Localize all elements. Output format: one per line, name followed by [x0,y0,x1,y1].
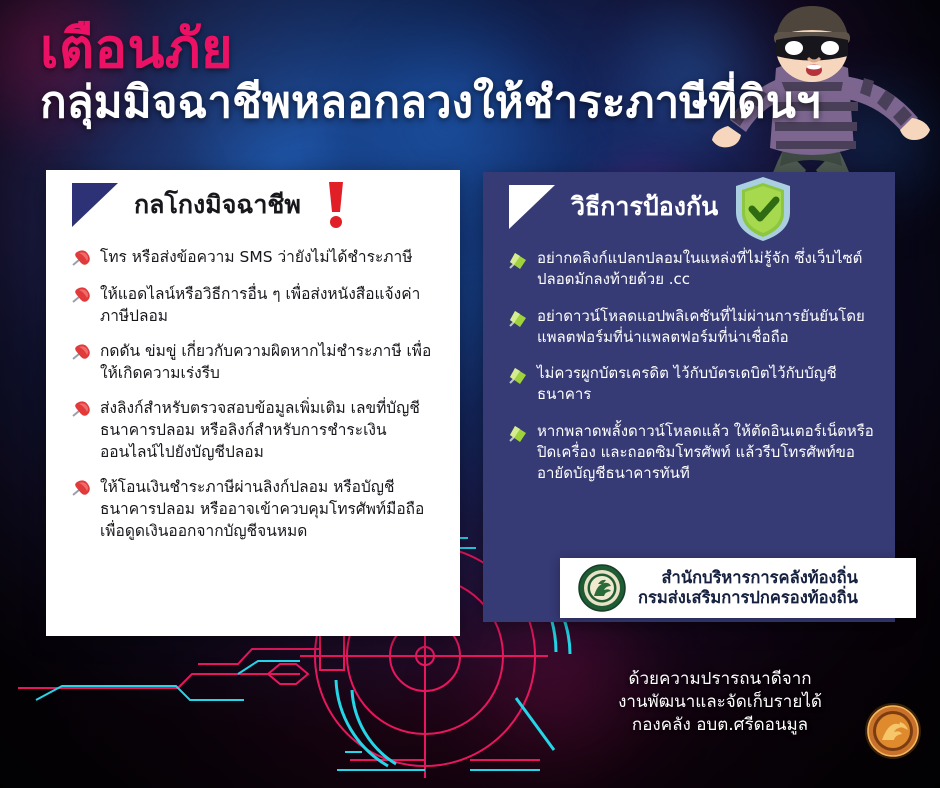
red-pushpin-icon [70,285,92,307]
prevention-list: อย่ากดลิงก์แปลกปลอมในแหล่งที่ไม่รู้จัก ซ… [483,248,895,485]
prevention-card: วิธีการป้องกัน อย่ากดลิงก์แปลกปลอมในแหล่… [483,172,895,622]
headline: เตือนภัย กลุ่มมิจฉาชีพหลอกลวงให้ชำระภาษี… [40,22,920,126]
list-item: ให้โอนเงินชำระภาษีผ่านลิงก์ปลอม หรือบัญช… [70,476,440,542]
list-item: กดดัน ข่มขู่ เกี่ยวกับความผิดหากไม่ชำระภ… [70,340,440,384]
list-item: ไม่ควรผูกบัตรเครดิต ไว้กับบัตรเดบิตไว้กั… [507,363,875,406]
triangle-accent-icon [509,185,555,229]
list-item-text: โทร หรือส่งข้อความ SMS ว่ายังไม่ได้ชำระภ… [100,246,412,268]
scam-methods-header: กลโกงมิจฉาชีพ [46,170,460,240]
credit-line-3: กองคลัง อบต.ศรีดอนมูล [575,714,865,737]
red-pushpin-icon [70,248,92,270]
list-item-text: ให้แอดไลน์หรือวิธีการอื่น ๆ เพื่อส่งหนัง… [100,283,440,327]
agency-banner: สำนักบริหารการคลังท้องถิ่น กรมส่งเสริมกา… [560,558,916,618]
municipality-seal-icon [862,700,924,762]
scam-methods-title: กลโกงมิจฉาชีพ [134,185,301,225]
list-item: ให้แอดไลน์หรือวิธีการอื่น ๆ เพื่อส่งหนัง… [70,283,440,327]
list-item: หากพลาดพลั้งดาวน์โหลดแล้ว ให้ตัดอินเตอร์… [507,421,875,485]
red-pushpin-icon [70,399,92,421]
list-item: อย่าดาวน์โหลดแอปพลิเคชันที่ไม่ผ่านการยัน… [507,306,875,349]
scam-methods-card: กลโกงมิจฉาชีพ โทร หรือส่งข้อความ SMS ว่า… [46,170,460,636]
red-pushpin-icon [70,478,92,500]
agency-line-2: กรมส่งเสริมการปกครองท้องถิ่น [638,588,858,608]
list-item-text: ไม่ควรผูกบัตรเครดิต ไว้กับบัตรเดบิตไว้กั… [537,363,875,406]
list-item-text: ส่งลิงก์สำหรับตรวจสอบข้อมูลเพิ่มเติม เลข… [100,397,440,463]
green-pushpin-icon [507,365,529,387]
red-pushpin-icon [70,342,92,364]
list-item-text: อย่าดาวน์โหลดแอปพลิเคชันที่ไม่ผ่านการยัน… [537,306,875,349]
prevention-header: วิธีการป้องกัน [483,172,895,242]
agency-text: สำนักบริหารการคลังท้องถิ่น กรมส่งเสริมกา… [638,568,858,608]
dla-seal-icon [578,564,626,612]
poster-root: เตือนภัย กลุ่มมิจฉาชีพหลอกลวงให้ชำระภาษี… [0,0,940,788]
green-pushpin-icon [507,250,529,272]
list-item: อย่ากดลิงก์แปลกปลอมในแหล่งที่ไม่รู้จัก ซ… [507,248,875,291]
list-item-text: กดดัน ข่มขู่ เกี่ยวกับความผิดหากไม่ชำระภ… [100,340,440,384]
agency-line-1: สำนักบริหารการคลังท้องถิ่น [638,568,858,588]
green-shield-check-icon [732,175,794,243]
triangle-accent-icon [72,183,118,227]
list-item-text: ให้โอนเงินชำระภาษีผ่านลิงก์ปลอม หรือบัญช… [100,476,440,542]
list-item-text: อย่ากดลิงก์แปลกปลอมในแหล่งที่ไม่รู้จัก ซ… [537,248,875,291]
credit-line-1: ด้วยความปรารถนาดีจาก [575,668,865,691]
list-item-text: หากพลาดพลั้งดาวน์โหลดแล้ว ให้ตัดอินเตอร์… [537,421,875,485]
list-item: ส่งลิงก์สำหรับตรวจสอบข้อมูลเพิ่มเติม เลข… [70,397,440,463]
list-item: โทร หรือส่งข้อความ SMS ว่ายังไม่ได้ชำระภ… [70,246,440,270]
credit-line-2: งานพัฒนาและจัดเก็บรายได้ [575,691,865,714]
exclamation-mark-icon [323,182,349,228]
credit-block: ด้วยความปรารถนาดีจาก งานพัฒนาและจัดเก็บร… [575,668,865,736]
green-pushpin-icon [507,423,529,445]
scam-methods-list: โทร หรือส่งข้อความ SMS ว่ายังไม่ได้ชำระภ… [46,246,460,542]
page-title: เตือนภัย [40,22,920,76]
prevention-title: วิธีการป้องกัน [571,187,718,227]
green-pushpin-icon [507,308,529,330]
page-subtitle: กลุ่มมิจฉาชีพหลอกลวงให้ชำระภาษีที่ดินฯ [40,80,920,126]
